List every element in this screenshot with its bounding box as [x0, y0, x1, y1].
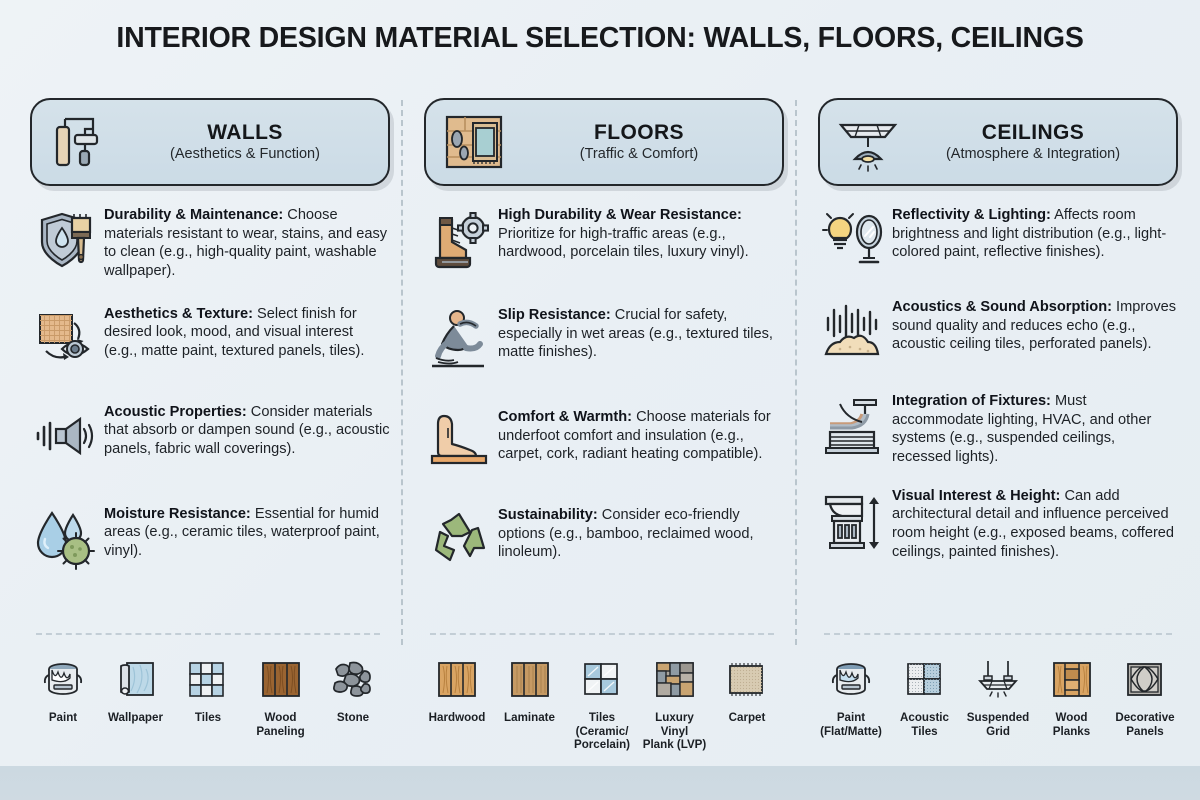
column-ceilings: CEILINGS (Atmosphere & Integration) [818, 98, 1178, 571]
carpet-icon [722, 655, 772, 705]
swatch-wallpaper[interactable]: Wallpaper [103, 655, 169, 738]
bullet-heading: Moisture Resistance: [104, 506, 251, 522]
column-header-walls: WALLS (Aesthetics & Function) [30, 98, 390, 186]
swatch-label: Paint [49, 711, 77, 725]
bullet-list-ceilings: Reflectivity & Lighting: Affects room br… [818, 200, 1178, 561]
bullet-item: Acoustic Properties: Consider materials … [30, 397, 390, 473]
swatch-label: AcousticTiles [900, 711, 949, 738]
swatch-label: DecorativePanels [1115, 711, 1174, 738]
paint-roller-wall-icon [44, 106, 116, 178]
swatch-divider-floors [430, 633, 774, 635]
bullet-heading: Acoustic Properties: [104, 404, 247, 420]
boot-gear-icon [424, 202, 498, 276]
paint-can-icon [826, 655, 876, 705]
column-divider-1 [401, 100, 403, 645]
bullet-text: High Durability & Wear Resistance: Prior… [498, 200, 784, 262]
decorative-panel-icon [1120, 655, 1170, 705]
floor-plan-rug-footprints-icon [438, 106, 510, 178]
swatch-hardwood[interactable]: Hardwood [424, 655, 490, 752]
swatch-strip-ceilings: Paint(Flat/Matte) [818, 655, 1178, 738]
bullet-text: Visual Interest & Height: Can add archit… [892, 481, 1178, 562]
bullet-heading: Aesthetics & Texture: [104, 306, 253, 322]
wood-plank-icon [1047, 655, 1097, 705]
bullet-item: Sustainability: Consider eco-friendly op… [424, 500, 784, 576]
bullet-list-walls: Durability & Maintenance: Choose materia… [30, 200, 390, 575]
swatch-label: SuspendedGrid [967, 711, 1030, 738]
swatch-carpet[interactable]: Carpet [714, 655, 780, 752]
bullet-text: Comfort & Warmth: Choose materials for u… [498, 402, 784, 464]
swatch-paint[interactable]: Paint [30, 655, 96, 738]
swatch-label: WoodPlanks [1053, 711, 1090, 738]
cornice-height-arrow-icon [818, 483, 892, 557]
swatch-luxury-vinyl-plank[interactable]: Luxury VinylPlank (LVP) [642, 655, 708, 752]
bullet-item: Acoustics & Sound Absorption: Improves s… [818, 292, 1178, 368]
bullet-body: Prioritize for high-traffic areas (e.g.,… [498, 226, 749, 261]
water-droplet-mold-icon [30, 501, 104, 575]
swatch-strip-floors: Hardwood Laminate [424, 655, 780, 752]
bullet-text: Moisture Resistance: Essential for humid… [104, 499, 390, 561]
bullet-text: Acoustics & Sound Absorption: Improves s… [892, 292, 1178, 354]
swatch-label: Tiles(Ceramic/Porcelain) [574, 711, 630, 752]
swatch-stone[interactable]: Stone [320, 655, 386, 738]
column-floors: FLOORS (Traffic & Comfort) [424, 98, 784, 586]
swatch-tiles[interactable]: Tiles [175, 655, 241, 738]
bullet-item: Aesthetics & Texture: Select finish for … [30, 299, 390, 375]
column-subtitle-walls: (Aesthetics & Function) [116, 147, 374, 163]
swatch-label: Carpet [729, 711, 766, 725]
bullet-item: Durability & Maintenance: Choose materia… [30, 200, 390, 281]
tile-grid-icon [183, 655, 233, 705]
swatch-label: Paint(Flat/Matte) [820, 711, 882, 738]
barefoot-on-floor-icon [424, 404, 498, 478]
column-header-ceilings: CEILINGS (Atmosphere & Integration) [818, 98, 1178, 186]
bullet-text: Aesthetics & Texture: Select finish for … [104, 299, 390, 361]
suspended-grid-icon [973, 655, 1023, 705]
swatch-decorative-panels[interactable]: DecorativePanels [1112, 655, 1178, 738]
column-title-walls: WALLS [116, 122, 374, 145]
swatch-acoustic-tiles[interactable]: AcousticTiles [892, 655, 958, 738]
swatch-label: Tiles [195, 711, 221, 725]
column-divider-2 [795, 100, 797, 645]
swatch-tiles-ceramic-porcelain[interactable]: Tiles(Ceramic/Porcelain) [569, 655, 635, 752]
bottom-band [0, 766, 1200, 800]
bullet-heading: Acoustics & Sound Absorption: [892, 299, 1112, 315]
swatch-label: Wallpaper [108, 711, 163, 725]
bullet-text: Durability & Maintenance: Choose materia… [104, 200, 390, 281]
swatch-label: Laminate [504, 711, 555, 725]
column-header-floors: FLOORS (Traffic & Comfort) [424, 98, 784, 186]
bullet-text: Reflectivity & Lighting: Affects room br… [892, 200, 1178, 262]
bullet-text: Slip Resistance: Crucial for safety, esp… [498, 300, 784, 362]
column-subtitle-floors: (Traffic & Comfort) [510, 147, 768, 163]
bullet-heading: Integration of Fixtures: [892, 393, 1051, 409]
swatch-paint-flat-matte[interactable]: Paint(Flat/Matte) [818, 655, 884, 738]
bullet-heading: Slip Resistance: [498, 307, 611, 323]
column-subtitle-ceilings: (Atmosphere & Integration) [904, 147, 1162, 163]
bullet-list-floors: High Durability & Wear Resistance: Prior… [424, 200, 784, 576]
shield-paintbrush-icon [30, 202, 104, 276]
bullet-heading: Comfort & Warmth: [498, 409, 632, 425]
swatch-label: WoodPaneling [256, 711, 304, 738]
bullet-text: Sustainability: Consider eco-friendly op… [498, 500, 784, 562]
bullet-heading: High Durability & Wear Resistance: [498, 207, 742, 223]
fabric-swatch-eye-icon [30, 301, 104, 375]
soundwave-absorption-icon [818, 294, 892, 368]
infographic-page: INTERIOR DESIGN MATERIAL SELECTION: WALL… [0, 0, 1200, 800]
swatch-label: Luxury VinylPlank (LVP) [642, 711, 708, 752]
swatch-laminate[interactable]: Laminate [497, 655, 563, 752]
bullet-item: Reflectivity & Lighting: Affects room br… [818, 200, 1178, 276]
lvp-icon [650, 655, 700, 705]
bullet-item: Visual Interest & Height: Can add archit… [818, 481, 1178, 562]
bullet-text: Acoustic Properties: Consider materials … [104, 397, 390, 459]
hvac-duct-vent-icon [818, 388, 892, 462]
recycle-icon [424, 502, 498, 576]
speaker-soundwave-icon [30, 399, 104, 473]
swatch-suspended-grid[interactable]: SuspendedGrid [965, 655, 1031, 738]
bullet-item: Comfort & Warmth: Choose materials for u… [424, 402, 784, 478]
swatch-wood-planks[interactable]: WoodPlanks [1039, 655, 1105, 738]
slipping-person-icon [424, 302, 498, 376]
paint-can-icon [38, 655, 88, 705]
swatch-divider-ceilings [824, 633, 1172, 635]
bullet-heading: Sustainability: [498, 507, 598, 523]
swatch-wood-paneling[interactable]: WoodPaneling [248, 655, 314, 738]
lightbulb-mirror-icon [818, 202, 892, 276]
bullet-heading: Visual Interest & Height: [892, 488, 1060, 504]
bullet-item: Integration of Fixtures: Must accommodat… [818, 386, 1178, 467]
page-title: INTERIOR DESIGN MATERIAL SELECTION: WALL… [0, 22, 1200, 55]
wallpaper-roll-icon [111, 655, 161, 705]
ceramic-tile-icon [577, 655, 627, 705]
column-walls: WALLS (Aesthetics & Function) [30, 98, 390, 585]
swatch-strip-walls: Paint Wallpaper [30, 655, 386, 738]
swatch-label: Stone [337, 711, 369, 725]
stone-cluster-icon [328, 655, 378, 705]
swatch-label: Hardwood [429, 711, 486, 725]
bullet-text: Integration of Fixtures: Must accommodat… [892, 386, 1178, 467]
laminate-plank-icon [505, 655, 555, 705]
bullet-heading: Reflectivity & Lighting: [892, 207, 1051, 223]
acoustic-tile-icon [900, 655, 950, 705]
hardwood-plank-icon [432, 655, 482, 705]
bullet-item: Slip Resistance: Crucial for safety, esp… [424, 300, 784, 376]
column-title-ceilings: CEILINGS [904, 122, 1162, 145]
column-title-floors: FLOORS [510, 122, 768, 145]
bullet-heading: Durability & Maintenance: [104, 207, 283, 223]
suspended-ceiling-pendant-light-icon [832, 106, 904, 178]
wood-panel-icon [256, 655, 306, 705]
bullet-item: Moisture Resistance: Essential for humid… [30, 499, 390, 575]
swatch-divider-walls [36, 633, 380, 635]
bullet-item: High Durability & Wear Resistance: Prior… [424, 200, 784, 276]
